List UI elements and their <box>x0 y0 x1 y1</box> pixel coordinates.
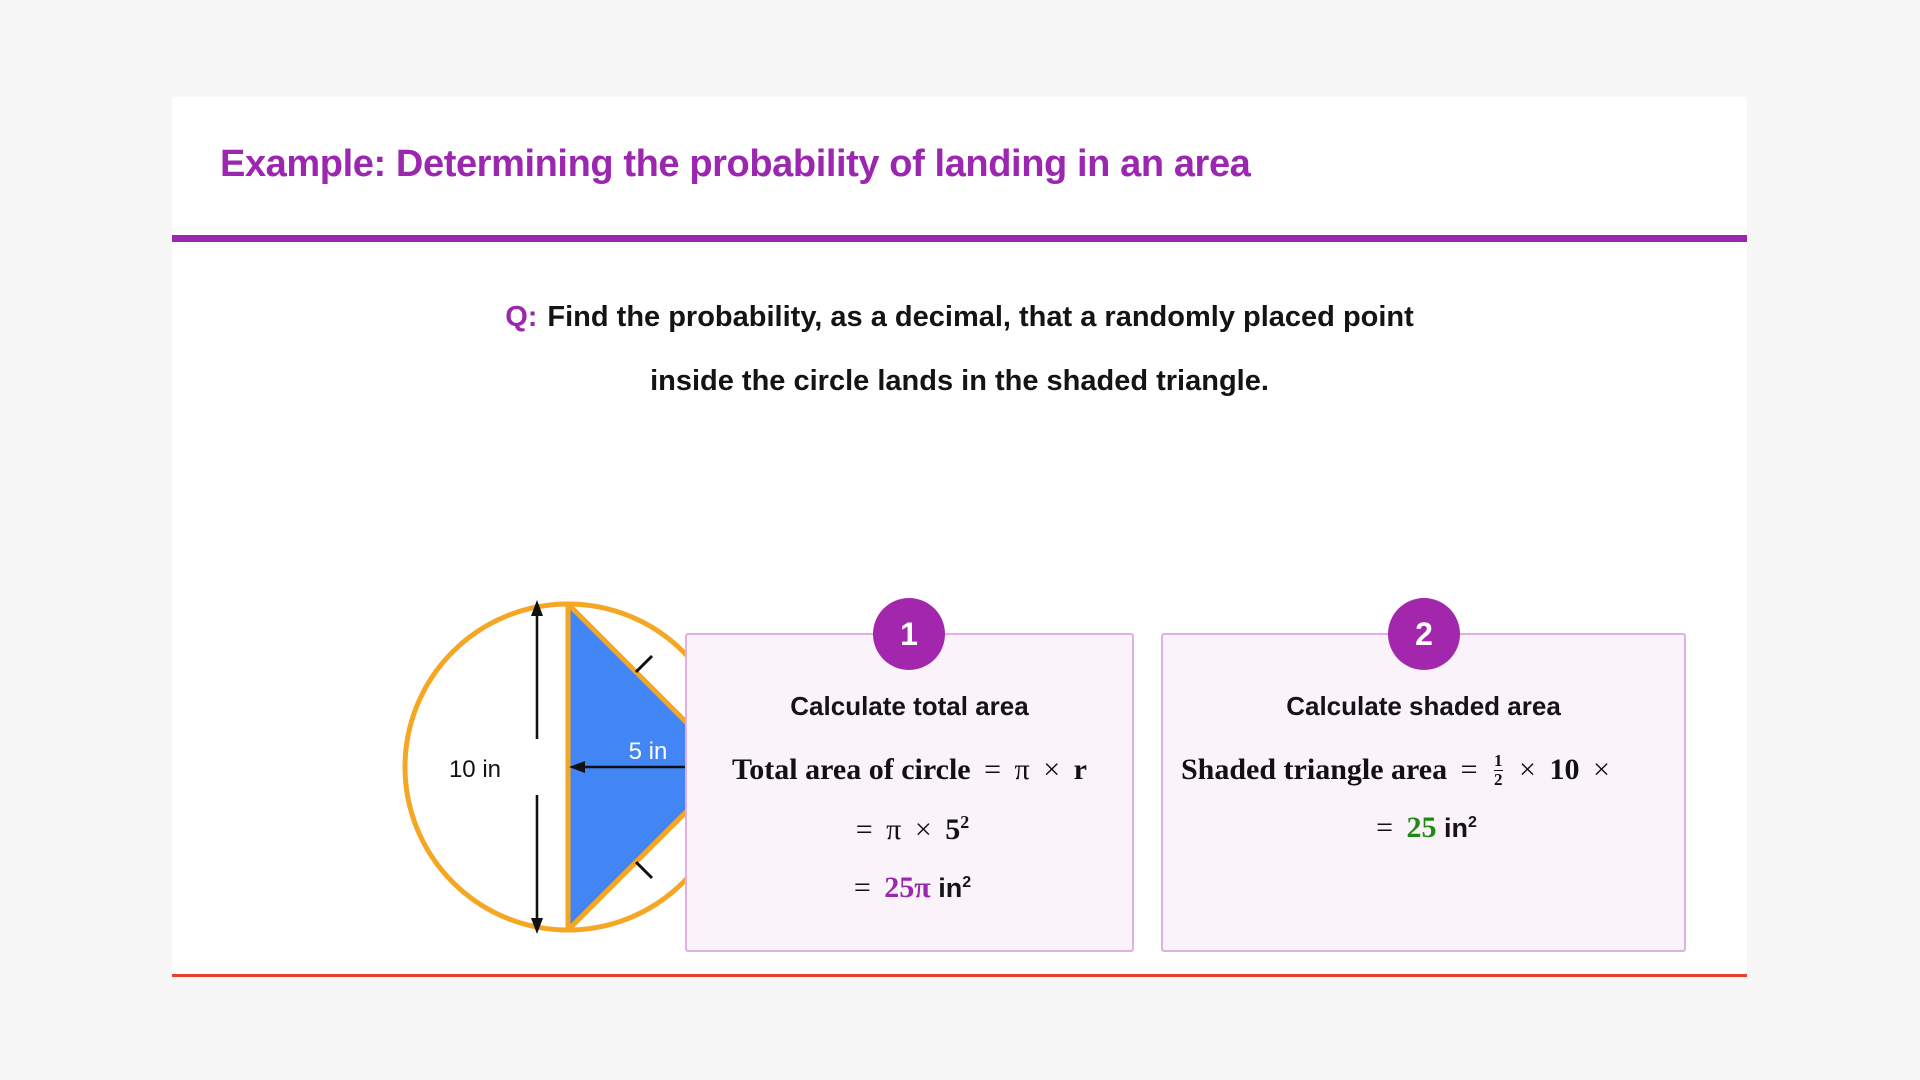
slide-card: Example: Determining the probability of … <box>172 97 1747 977</box>
circle-formula-radius-var: r <box>1074 753 1087 786</box>
circle-sub-exponent: 2 <box>960 812 969 832</box>
step-2-math: Shaded triangle area = 1 2 × 10 × = 25 i… <box>1163 743 1684 855</box>
step-1-math: Total area of circle = π × r = π × 52 = … <box>687 743 1132 915</box>
circle-formula-times: × <box>1043 753 1060 786</box>
triangle-result-unit: in2 <box>1444 813 1477 843</box>
one-half-fraction: 1 2 <box>1494 752 1503 788</box>
circle-result-pi: π <box>914 871 930 904</box>
step-card-2: Calculate shaded area Shaded triangle ar… <box>1161 633 1686 952</box>
fraction-numerator: 1 <box>1494 752 1503 769</box>
math-line-circle-substituted: = π × 52 <box>687 796 1132 856</box>
step-card-1: Calculate total area Total area of circl… <box>685 633 1134 952</box>
triangle-formula-equals: = <box>1461 753 1478 786</box>
math-line-triangle-result: = 25 in2 <box>1163 796 1684 855</box>
triangle-formula-label: Shaded triangle area <box>1181 753 1447 786</box>
circle-sub-base: 5 <box>945 813 960 846</box>
step-badge-2: 2 <box>1388 598 1460 670</box>
question-text-line-1: Find the probability, as a decimal, that… <box>547 301 1413 333</box>
triangle-formula-times-1: × <box>1519 753 1536 786</box>
triangle-result-equals: = <box>1376 811 1393 844</box>
fraction-denominator: 2 <box>1494 770 1503 788</box>
circle-result-unit-exponent: 2 <box>962 874 971 891</box>
circle-result-unit: in2 <box>938 873 971 903</box>
question-marker: Q: <box>505 301 537 333</box>
circle-sub-pi: π <box>886 813 901 846</box>
circle-formula-pi: π <box>1015 753 1030 786</box>
circle-formula-label: Total area of circle <box>732 753 971 786</box>
triangle-result-unit-exponent: 2 <box>1468 814 1477 831</box>
circle-formula-equals: = <box>984 753 1001 786</box>
math-line-circle-formula: Total area of circle = π × r <box>687 743 1132 796</box>
step-1-heading: Calculate total area <box>687 691 1132 722</box>
header-divider <box>172 235 1747 242</box>
step-2-heading: Calculate shaded area <box>1163 691 1684 722</box>
triangle-formula-times-2: × <box>1593 753 1610 786</box>
question-line-2: inside the circle lands in the shaded tr… <box>172 349 1747 413</box>
radius-label: 5 in <box>629 738 668 765</box>
math-line-circle-result: = 25π in2 <box>687 856 1132 915</box>
triangle-result-value: 25 <box>1407 811 1437 844</box>
math-line-triangle-formula: Shaded triangle area = 1 2 × 10 × <box>1163 743 1684 796</box>
circle-sub-equals: = <box>856 813 873 846</box>
circle-result-equals: = <box>854 871 871 904</box>
circle-result-value: 25 <box>884 871 914 904</box>
step-badge-1: 1 <box>873 598 945 670</box>
diameter-label: 10 in <box>449 756 501 783</box>
slide-header: Example: Determining the probability of … <box>172 97 1747 244</box>
question-block: Q:Find the probability, as a decimal, th… <box>172 285 1747 413</box>
bottom-rule <box>172 974 1747 977</box>
circle-result-unit-text: in <box>938 873 962 903</box>
triangle-result-unit-text: in <box>1444 813 1468 843</box>
circle-sub-times: × <box>915 813 932 846</box>
page-title: Example: Determining the probability of … <box>220 143 1250 186</box>
triangle-formula-base: 10 <box>1549 753 1579 786</box>
question-line-1: Q:Find the probability, as a decimal, th… <box>172 285 1747 349</box>
